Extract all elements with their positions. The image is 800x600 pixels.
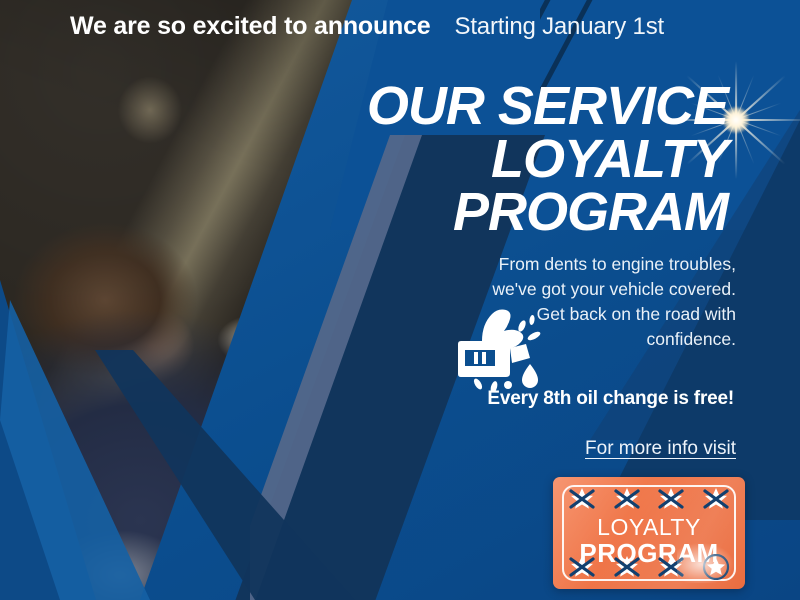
- offer-text: Every 8th oil change is free!: [404, 388, 734, 410]
- stamp-crossed-icon: [656, 554, 686, 580]
- headline-line-1: OUR SERVICE: [308, 80, 728, 133]
- stamp-reward-circled-icon: [701, 554, 731, 580]
- stamp-crossed-icon: [612, 486, 642, 512]
- description-paragraph: From dents to engine troubles, we've got…: [466, 252, 736, 351]
- loyalty-card[interactable]: LOYALTY PROGRAM: [553, 477, 745, 589]
- stamp-crossed-icon: [612, 554, 642, 580]
- paragraph-line-2: we've got your vehicle covered.: [466, 277, 736, 302]
- headline-line-2: LOYALTY: [308, 133, 728, 186]
- start-date-text: Starting January 1st: [455, 13, 664, 41]
- page-title: OUR SERVICE LOYALTY PROGRAM: [308, 80, 728, 239]
- stamp-crossed-icon: [701, 486, 731, 512]
- paragraph-line-1: From dents to engine troubles,: [466, 252, 736, 277]
- announce-text: We are so excited to announce: [70, 12, 431, 41]
- promo-poster: We are so excited to announce Starting J…: [0, 0, 800, 600]
- more-info-link[interactable]: For more info visit: [585, 438, 736, 460]
- stamp-crossed-icon: [656, 486, 686, 512]
- paragraph-line-3: Get back on the road with: [466, 302, 736, 327]
- stamp-row-top: [567, 486, 731, 512]
- stamp-crossed-icon: [567, 554, 597, 580]
- top-banner: We are so excited to announce Starting J…: [70, 12, 750, 41]
- card-title-line-1: LOYALTY: [553, 516, 745, 539]
- stamp-crossed-icon: [567, 486, 597, 512]
- paragraph-line-4: confidence.: [466, 327, 736, 352]
- stamp-row-bottom: [567, 554, 731, 580]
- headline-line-3: PROGRAM: [308, 186, 728, 239]
